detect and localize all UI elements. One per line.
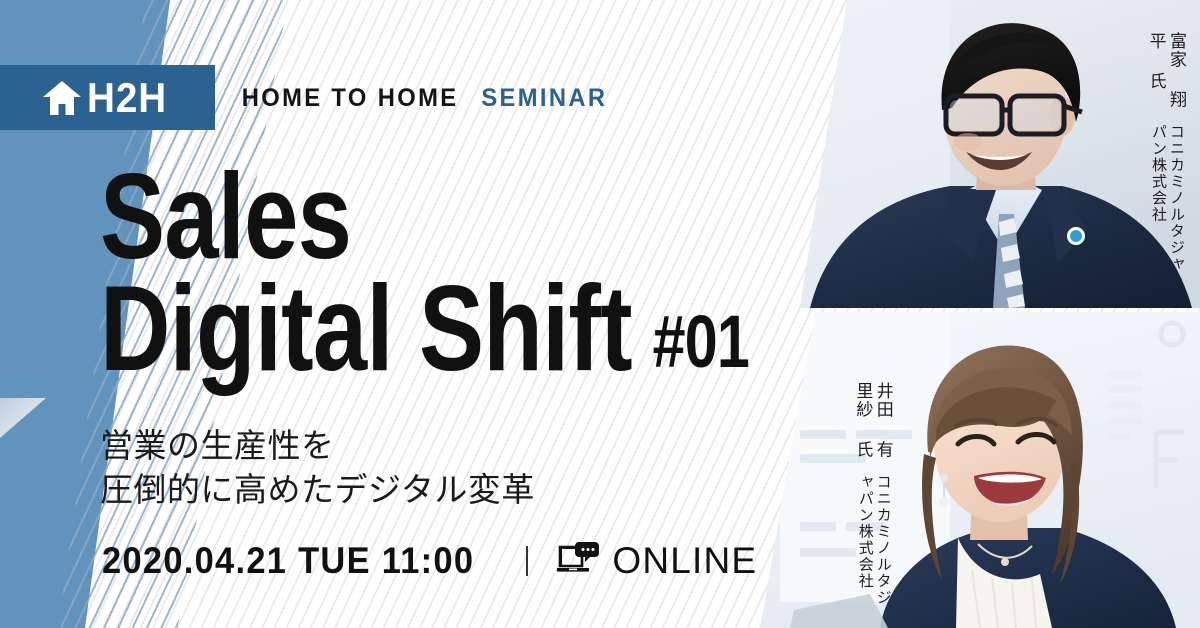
tagline-primary: HOME TO HOME: [242, 84, 459, 113]
title-line-1: Sales: [100, 160, 749, 272]
tagline: HOME TO HOME SEMINAR: [236, 84, 611, 113]
divider: [526, 546, 528, 576]
event-format: ONLINE: [556, 540, 757, 582]
speaker-name-bottom: 井田 有里紗 氏: [852, 382, 893, 468]
title-line-2-wrap: Digital Shift #01: [100, 272, 749, 384]
laptop-chat-icon: [556, 541, 600, 582]
speaker-credit-bottom: 井田 有里紗 氏 コニカミノルタジャパン株式会社: [852, 382, 893, 612]
badge-label: H2H: [87, 77, 167, 119]
event-format-label: ONLINE: [612, 540, 757, 582]
speaker-credit-top: 富家 翔平 氏 コニカミノルタジャパン株式会社: [1145, 32, 1186, 282]
speaker-org-top: コニカミノルタジャパン株式会社: [1145, 124, 1186, 282]
event-info-row: 2020.04.21 TUE 11:00 ONLINE: [102, 540, 757, 582]
subtitle-line-2: 圧倒的に高めたデジタル変革: [100, 468, 535, 512]
seminar-banner: H2H HOME TO HOME SEMINAR Sales Digital S…: [0, 0, 1200, 628]
house-icon: [41, 78, 83, 118]
tagline-secondary: SEMINAR: [481, 84, 607, 113]
subtitle: 営業の生産性を 圧倒的に高めたデジタル変革: [100, 424, 535, 512]
event-date: 2020.04.21 TUE 11:00: [102, 540, 474, 582]
page-title: Sales Digital Shift #01: [100, 160, 911, 384]
h2h-logo-badge[interactable]: H2H: [0, 65, 215, 130]
title-line-2: Digital Shift: [100, 272, 632, 384]
speaker-name-top: 富家 翔平 氏: [1145, 32, 1186, 118]
speaker-org-bottom: コニカミノルタジャパン株式会社: [852, 474, 893, 612]
issue-number: #01: [653, 308, 749, 376]
subtitle-line-1: 営業の生産性を: [100, 424, 535, 468]
